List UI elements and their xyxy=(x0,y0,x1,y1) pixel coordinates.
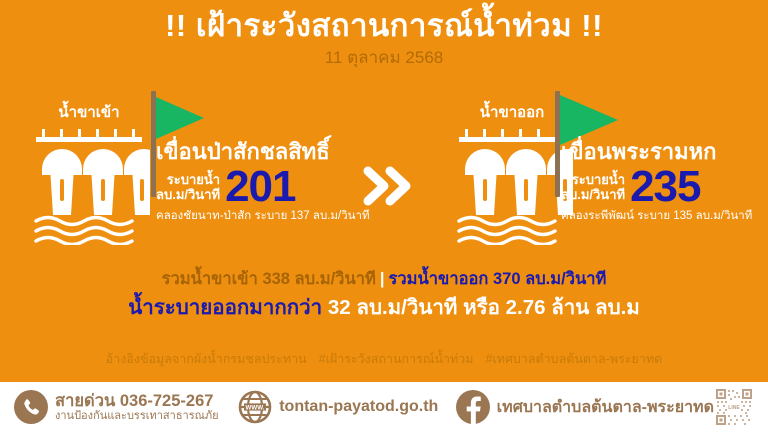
double-chevron-right-icon xyxy=(362,162,414,210)
footer-facebook[interactable]: เทศบาลตำบลต้นตาล-พระยาทด xyxy=(456,390,714,424)
header: !! เฝ้าระวังสถานการณ์น้ำท่วม !! 11 ตุลาค… xyxy=(0,8,768,68)
green-flag-icon-right xyxy=(560,95,618,145)
green-flag-icon-left xyxy=(156,97,204,139)
page-title: !! เฝ้าระวังสถานการณ์น้ำท่วม !! xyxy=(0,8,768,44)
footer-hotline[interactable]: สายด่วน 036-725-267 งานป้องกันและบรรเทาส… xyxy=(14,390,219,424)
dam-icon xyxy=(28,123,150,245)
rate-label-line2-right: ลบ.ม/วินาที xyxy=(561,188,625,203)
infographic-poster: !! เฝ้าระวังสถานการณ์น้ำท่วม !! 11 ตุลาค… xyxy=(0,0,768,432)
footer-bar: สายด่วน 036-725-267 งานป้องกันและบรรเทาส… xyxy=(0,382,768,432)
dam-rate-row-left: ระบายน้ำ ลบ.ม/วินาที 201 xyxy=(156,167,366,207)
line-qr-code-icon[interactable]: LINE xyxy=(714,387,754,427)
dam-caption-right: คลองระพีพัฒน์ ระบาย 135 ลบ.ม/วินาที xyxy=(561,210,766,224)
svg-text:LINE: LINE xyxy=(728,405,740,411)
hotline-number: สายด่วน 036-725-267 xyxy=(55,392,219,410)
summary-difference-line: น้ำระบายออกมากกว่า 32 ลบ.ม/วินาที หรือ 2… xyxy=(0,294,768,322)
rate-label-right: ระบายน้ำ ลบ.ม/วินาที xyxy=(561,173,625,203)
total-outflow-text: รวมน้ำขาออก 370 ลบ.ม/วินาที xyxy=(389,270,607,288)
rate-label-line2-left: ลบ.ม/วินาที xyxy=(156,188,220,203)
rate-label-line1-right: ระบายน้ำ xyxy=(561,173,625,188)
rate-value-right: 235 xyxy=(630,167,700,207)
globe-www-icon: WWW. xyxy=(238,390,272,424)
dam-panel-inflow: น้ำขาเข้า xyxy=(28,95,358,255)
summary-section: รวมน้ำขาเข้า 338 ลบ.ม/วินาที|รวมน้ำขาออก… xyxy=(0,268,768,322)
difference-label: น้ำระบายออกมากกว่า xyxy=(128,296,322,319)
data-source-text: อ้างอิงข้อมูลจากผังน้ำกรมชลประทาน xyxy=(106,352,307,366)
footer-website[interactable]: WWW. tontan-payatod.go.th xyxy=(238,390,438,424)
dam-panel-outflow: น้ำขาออก xyxy=(443,95,763,255)
flow-direction-label-in: น้ำขาเข้า xyxy=(28,105,150,120)
difference-value: 32 ลบ.ม/วินาที หรือ 2.76 ล้าน ลบ.ม xyxy=(328,296,640,319)
dam-icon-group-left: น้ำขาเข้า xyxy=(28,105,150,250)
dam-info-right: เขื่อนพระรามหก ระบายน้ำ ลบ.ม/วินาที 235 … xyxy=(561,139,766,224)
svg-text:WWW.: WWW. xyxy=(246,404,265,411)
summary-totals-line: รวมน้ำขาเข้า 338 ลบ.ม/วินาที|รวมน้ำขาออก… xyxy=(0,268,768,292)
reference-line: อ้างอิงข้อมูลจากผังน้ำกรมชลประทาน#เฝ้าระ… xyxy=(0,352,768,368)
phone-icon xyxy=(14,390,48,424)
website-url: tontan-payatod.go.th xyxy=(279,398,438,416)
hotline-department: งานป้องกันและบรรเทาสาธารณภัย xyxy=(55,410,219,422)
hashtag-flood-watch[interactable]: #เฝ้าระวังสถานการณ์น้ำท่วม xyxy=(319,352,474,366)
facebook-icon xyxy=(456,390,490,424)
rate-label-left: ระบายน้ำ ลบ.ม/วินาที xyxy=(156,173,220,203)
facebook-page-name: เทศบาลตำบลต้นตาล-พระยาทด xyxy=(497,395,714,420)
dam-caption-left: คลองชัยนาท-ป่าสัก ระบาย 137 ลบ.ม/วินาที xyxy=(156,210,366,224)
hotline-text-group: สายด่วน 036-725-267 งานป้องกันและบรรเทาส… xyxy=(55,392,219,423)
report-date: 11 ตุลาคม 2568 xyxy=(0,48,768,68)
rate-label-line1-left: ระบายน้ำ xyxy=(156,173,220,188)
summary-separator: | xyxy=(376,270,389,288)
dam-info-left: เขื่อนป่าสักชลสิทธิ์ ระบายน้ำ ลบ.ม/วินาท… xyxy=(156,139,366,224)
hashtag-municipality[interactable]: #เทศบาลตำบลต้นตาล-พระยาทด xyxy=(486,352,663,366)
rate-value-left: 201 xyxy=(225,167,295,207)
total-inflow-text: รวมน้ำขาเข้า 338 ลบ.ม/วินาที xyxy=(162,270,376,288)
dam-rate-row-right: ระบายน้ำ ลบ.ม/วินาที 235 xyxy=(561,167,766,207)
